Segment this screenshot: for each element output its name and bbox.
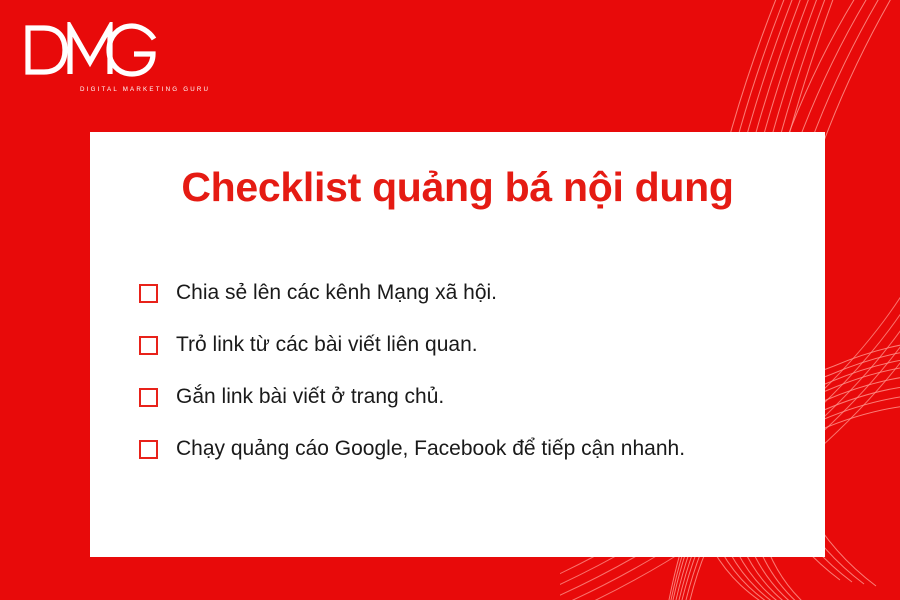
list-item[interactable]: Trỏ link từ các bài viết liên quan.	[139, 319, 805, 371]
dmg-logo-icon	[22, 22, 162, 80]
checklist: Chia sẻ lên các kênh Mạng xã hội. Trỏ li…	[139, 267, 805, 475]
checkbox-icon[interactable]	[139, 388, 158, 407]
logo-tagline: DIGITAL MARKETING GURU	[80, 86, 210, 93]
list-item[interactable]: Chia sẻ lên các kênh Mạng xã hội.	[139, 267, 805, 319]
checkbox-icon[interactable]	[139, 440, 158, 459]
brand-logo: DIGITAL MARKETING GURU	[22, 22, 192, 92]
content-card: Checklist quảng bá nội dung Chia sẻ lên …	[90, 132, 825, 557]
list-item[interactable]: Chạy quảng cáo Google, Facebook để tiếp …	[139, 423, 805, 475]
list-item-label: Chia sẻ lên các kênh Mạng xã hội.	[176, 281, 497, 305]
list-item-label: Trỏ link từ các bài viết liên quan.	[176, 333, 478, 357]
page-title: Checklist quảng bá nội dung	[90, 164, 825, 211]
list-item-label: Chạy quảng cáo Google, Facebook để tiếp …	[176, 437, 685, 461]
checkbox-icon[interactable]	[139, 336, 158, 355]
slide-canvas: DIGITAL MARKETING GURU Checklist quảng b…	[0, 0, 900, 600]
list-item[interactable]: Gắn link bài viết ở trang chủ.	[139, 371, 805, 423]
list-item-label: Gắn link bài viết ở trang chủ.	[176, 385, 444, 409]
checkbox-icon[interactable]	[139, 284, 158, 303]
